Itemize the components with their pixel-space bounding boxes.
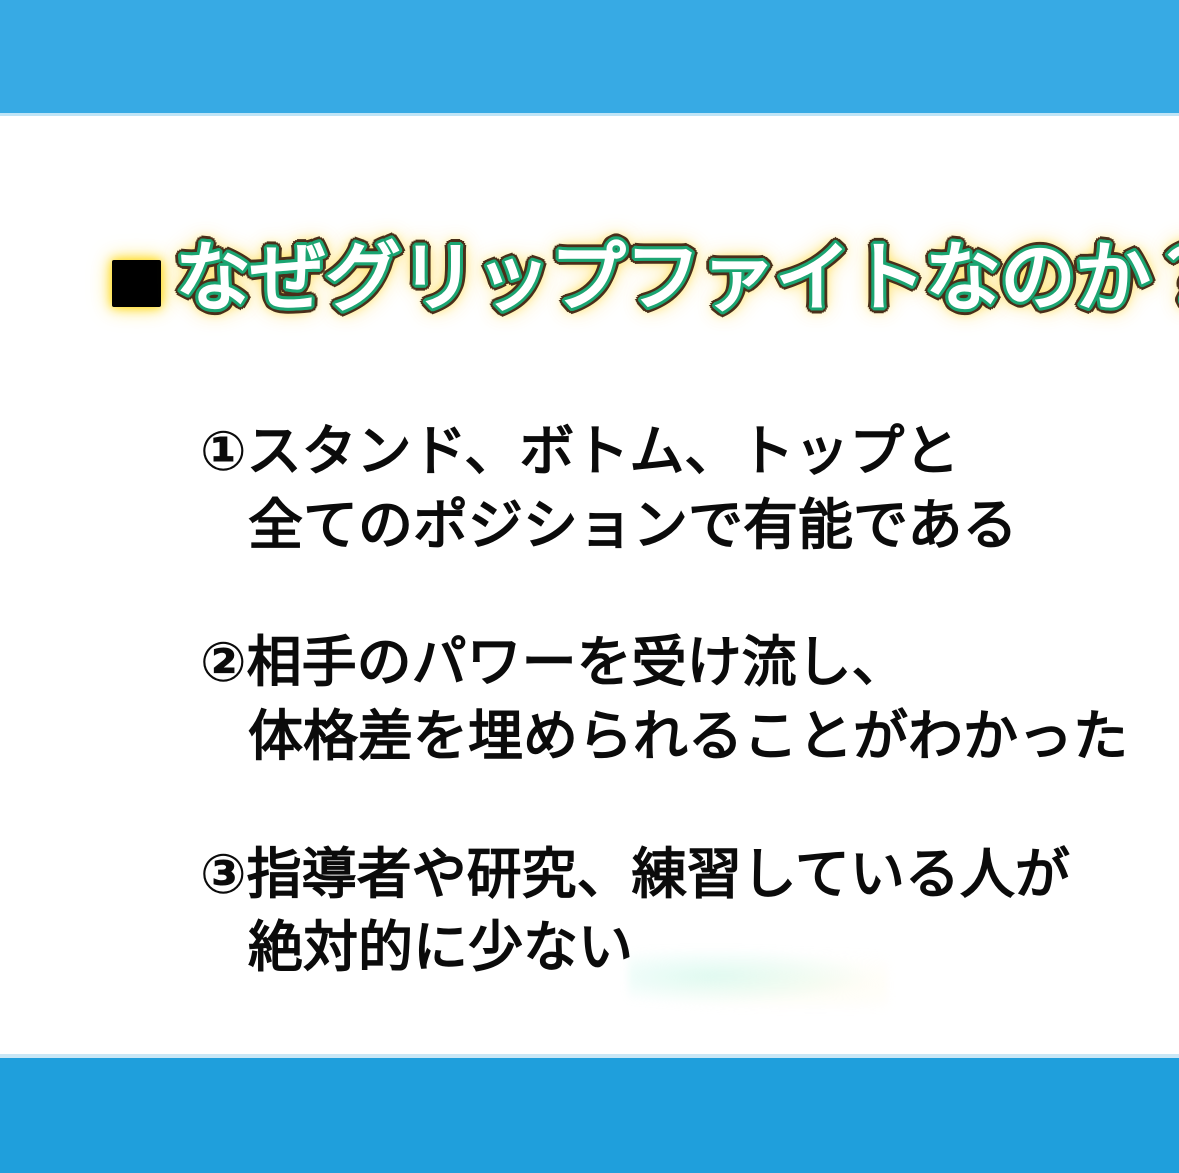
black-square-bullet-icon [112, 260, 161, 307]
list-item: ③指導者や研究、練習している人が 絶対的に少ない [200, 838, 1130, 985]
bottom-blue-band [0, 1058, 1179, 1173]
list-item-line: ③指導者や研究、練習している人が [200, 838, 1130, 912]
page-title: なぜグリップファイトなのか？ [175, 240, 1179, 316]
list-item-line: ②相手のパワーを受け流し、 [200, 626, 1130, 700]
list-item-line: ①スタンド、ボトム、トップと [200, 415, 1130, 489]
body-list: ①スタンド、ボトム、トップと 全てのポジションで有能である ②相手のパワーを受け… [200, 415, 1130, 985]
top-blue-band [0, 0, 1179, 113]
list-item: ②相手のパワーを受け流し、 体格差を埋められることがわかった [200, 626, 1130, 773]
list-item: ①スタンド、ボトム、トップと 全てのポジションで有能である [200, 415, 1130, 562]
headline-row: なぜグリップファイトなのか？ [112, 240, 1179, 316]
slide-canvas: なぜグリップファイトなのか？ ①スタンド、ボトム、トップと 全てのポジションで有… [0, 0, 1179, 1173]
list-item-line: 絶対的に少ない [200, 911, 1130, 985]
list-item-line: 体格差を埋められることがわかった [200, 700, 1130, 774]
list-item-line: 全てのポジションで有能である [200, 489, 1130, 563]
